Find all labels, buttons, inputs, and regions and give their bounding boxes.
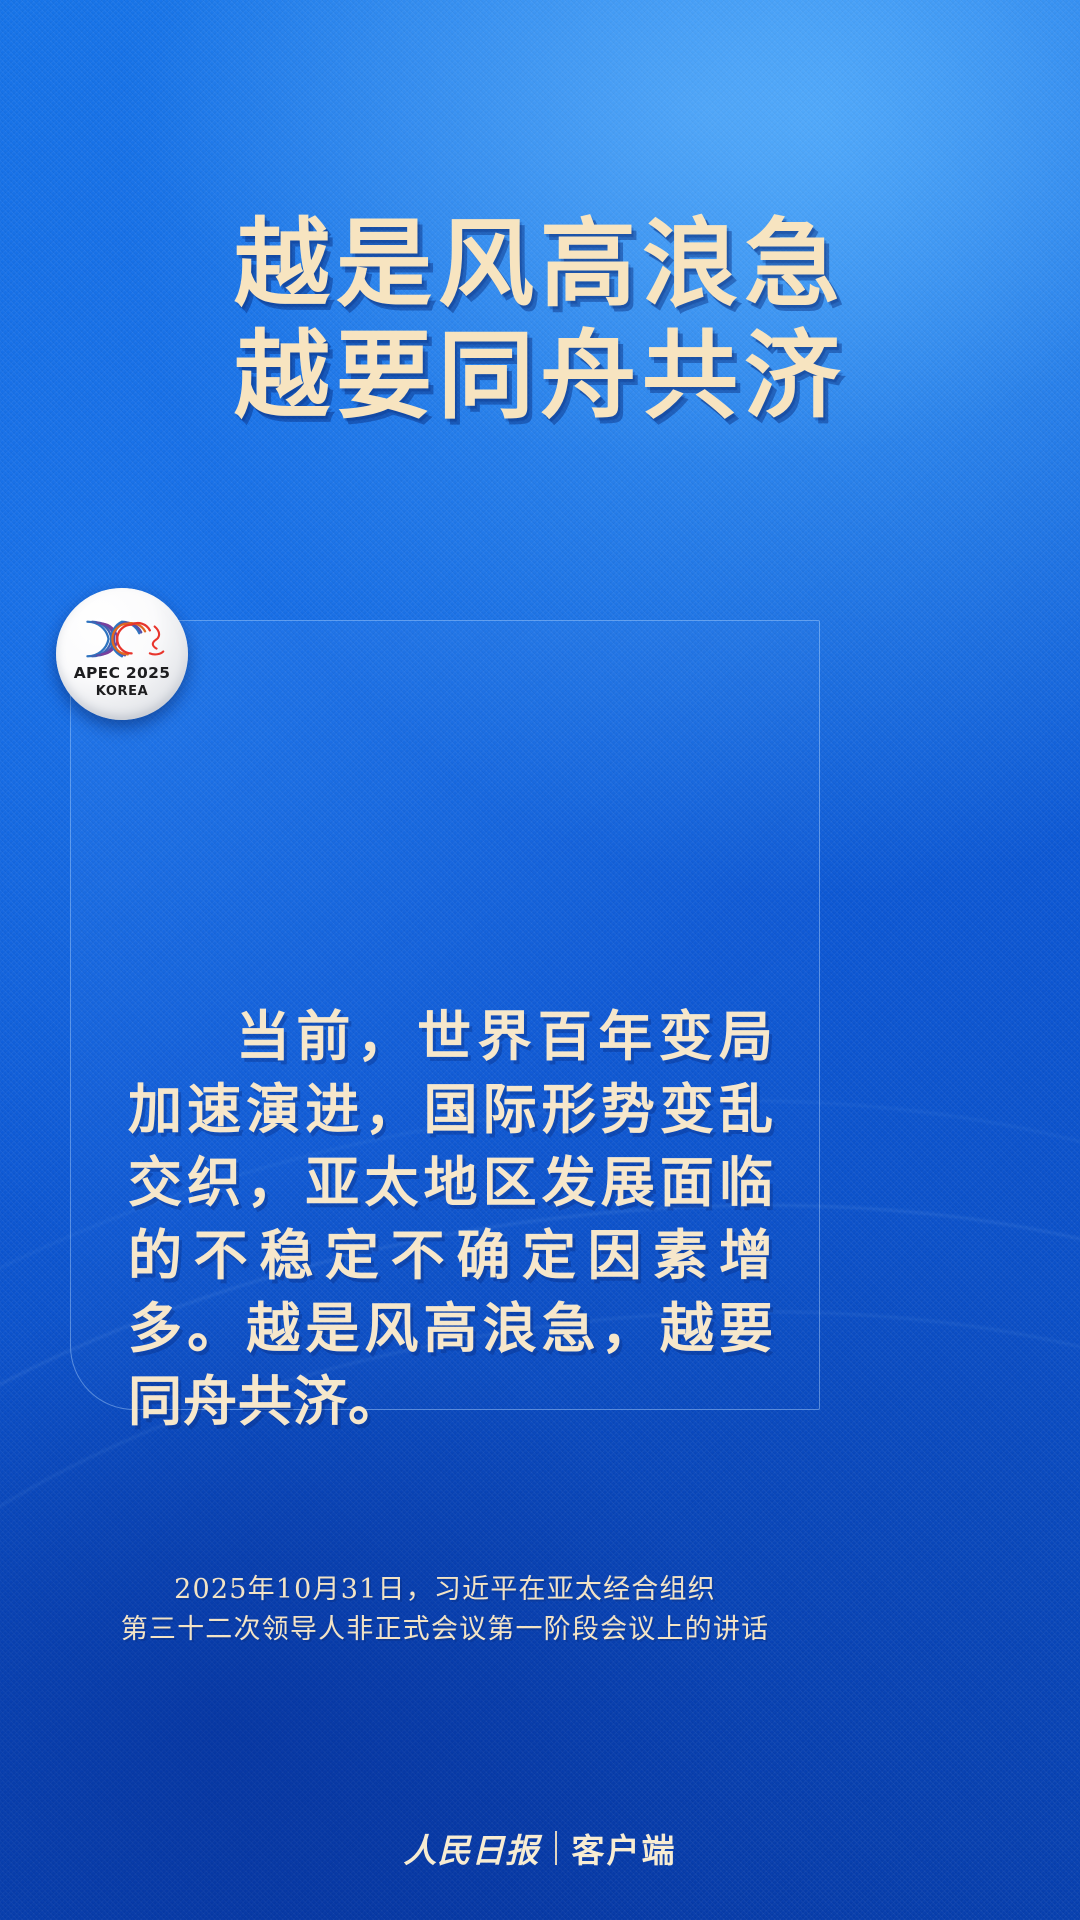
peoples-daily-logo: 人民日报	[404, 1824, 540, 1872]
poster-headline: 越是风高浪急 越要同舟共济	[0, 208, 1080, 432]
quote-paragraph: 当前，世界百年变局加速演进，国际形势变乱交织，亚太地区发展面临的不稳定不确定因素…	[128, 1000, 774, 1438]
quote-body: 当前，世界百年变局加速演进，国际形势变乱交织，亚太地区发展面临的不稳定不确定因素…	[128, 1000, 774, 1438]
client-app-label: 客户端	[572, 1824, 677, 1872]
attribution-line-2: 第三十二次领导人非正式会议第一阶段会议上的讲话	[70, 1610, 820, 1650]
footer-brand: 人民日报 客户端	[0, 1824, 1080, 1872]
headline-line-2: 越要同舟共济	[0, 320, 1080, 432]
poster-canvas: 越是风高浪急 越要同舟共济 APEC 2025 KOREA 当前，世界百年变局加…	[0, 0, 1080, 1920]
attribution-line-1: 2025年10月31日，习近平在亚太经合组织	[70, 1570, 820, 1610]
apec-year-label: APEC 2025	[74, 666, 171, 682]
apec-emblem-icon	[74, 614, 170, 664]
quote-attribution: 2025年10月31日，习近平在亚太经合组织 第三十二次领导人非正式会议第一阶段…	[70, 1570, 820, 1650]
apec-country-label: KOREA	[96, 685, 149, 698]
brand-divider	[555, 1831, 557, 1865]
apec-2025-korea-logo: APEC 2025 KOREA	[56, 588, 188, 720]
headline-line-1: 越是风高浪急	[0, 208, 1080, 320]
